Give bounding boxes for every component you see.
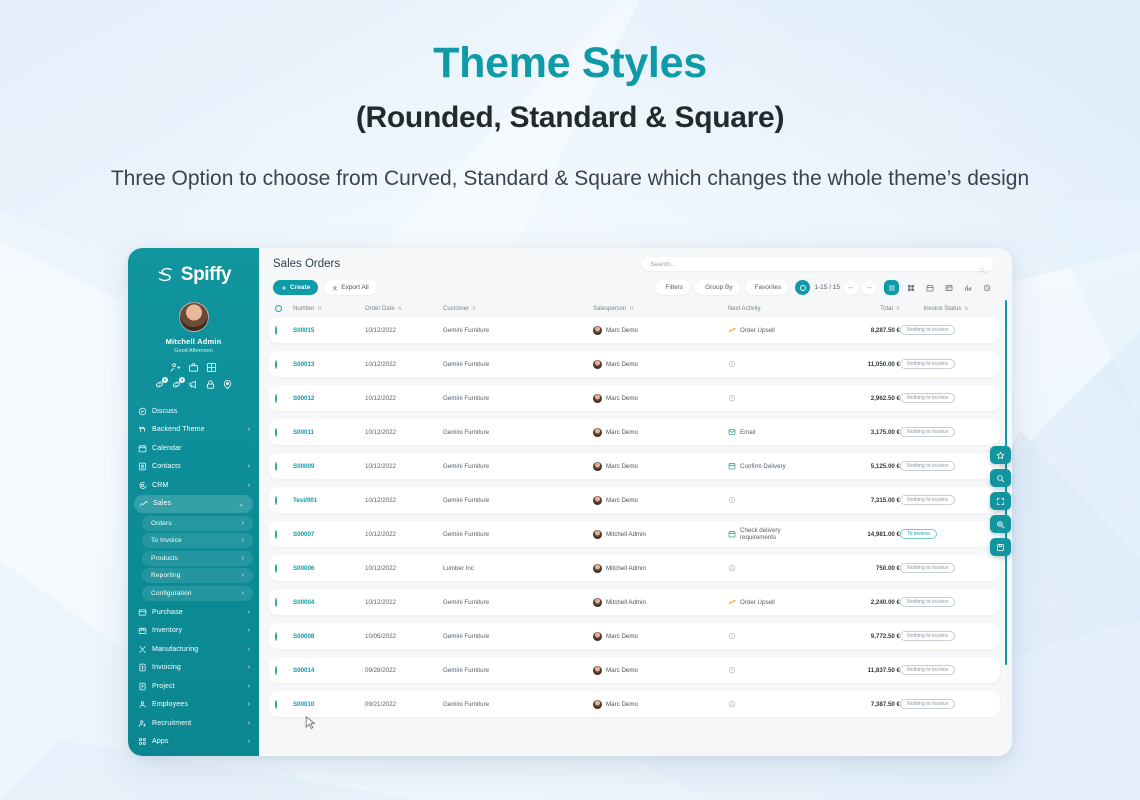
activity-view-button[interactable] — [979, 280, 994, 295]
user-name: Mitchell Admin — [128, 337, 259, 346]
clock-icon — [728, 496, 736, 504]
kanban-view-button[interactable] — [903, 280, 918, 295]
calendar-check-icon — [728, 462, 736, 470]
quick-icons-row-2: 0 4 — [128, 379, 259, 390]
cell-customer: Gemini Furniture — [443, 327, 593, 334]
sidebar-item-configuration[interactable]: Configuration › — [142, 586, 253, 601]
search-button[interactable] — [990, 469, 1011, 487]
checkbox-circle-icon — [275, 700, 277, 709]
search-icon[interactable] — [979, 261, 986, 268]
table-area: Number ⇅ Order Date ⇅ Customer ⇅ Salespe… — [259, 300, 1012, 756]
chevron-right-icon: › — [248, 426, 250, 433]
cell-next-activity — [728, 700, 814, 708]
table-body: S0001510/12/2022Gemini FurnitureMarc Dem… — [269, 317, 1000, 717]
salesperson-name: Marc Demo — [606, 701, 638, 708]
calendar-view-button[interactable] — [922, 280, 937, 295]
create-button-label: Create — [290, 284, 310, 291]
export-all-button[interactable]: Export All — [324, 280, 376, 295]
row-checkbox[interactable] — [275, 667, 293, 674]
chevron-right-icon: › — [248, 720, 250, 727]
group-by-label: Group By — [705, 284, 732, 291]
sidebar-item-label: Discuss — [152, 408, 245, 415]
table-row[interactable]: S0000810/05/2022Gemini FurnitureMarc Dem… — [269, 623, 1000, 649]
cell-order-date: 10/12/2022 — [365, 429, 443, 436]
contacts-icon — [138, 462, 147, 471]
brand[interactable]: Spiffy — [128, 260, 259, 290]
table-row[interactable]: S0001409/28/2022Gemini FurnitureMarc Dem… — [269, 657, 1000, 683]
graph-view-button[interactable] — [960, 280, 975, 295]
link-icon[interactable]: 0 — [154, 379, 165, 390]
column-header-invoice-status[interactable]: Invoice Status ⇅ — [900, 306, 992, 312]
megaphone-icon[interactable] — [188, 379, 199, 390]
chart-upsell-icon — [728, 598, 736, 606]
invoicing-icon — [138, 663, 147, 672]
cell-number[interactable]: S00008 — [293, 633, 365, 640]
sidebar-item-label: Recruitment — [152, 720, 243, 727]
sidebar-item-crm[interactable]: CRM › — [128, 476, 259, 495]
create-button[interactable]: Create — [273, 280, 318, 295]
pager-previous-button[interactable]: ← — [844, 281, 858, 295]
cell-next-activity: Check delivery requirements — [728, 527, 814, 541]
checkbox-circle-icon — [275, 428, 277, 437]
sidebar-item-label: To Invoice — [151, 537, 237, 544]
cell-salesperson: Marc Demo — [593, 496, 728, 505]
sidebar-item-label: Apps — [152, 738, 243, 745]
avatar — [593, 462, 602, 471]
export-all-label: Export All — [341, 284, 368, 291]
sidebar-item-invoicing[interactable]: Invoicing › — [128, 659, 259, 678]
sidebar-menu: Discuss Backend Theme › Calendar Contact… — [128, 402, 259, 756]
cell-customer: Gemini Furniture — [443, 395, 593, 402]
cell-invoice-status: Nothing to invoice — [900, 563, 992, 573]
total-amount: 8,287.50 € — [871, 327, 900, 334]
star-icon — [996, 451, 1005, 460]
row-checkbox[interactable] — [275, 701, 293, 708]
chevron-right-icon: › — [248, 609, 250, 616]
cell-invoice-status: Nothing to invoice — [900, 699, 992, 709]
page-subtitle: (Rounded, Standard & Square) — [0, 101, 1140, 135]
total-amount: 7,387.50 € — [871, 701, 900, 708]
location-pin-icon[interactable] — [222, 379, 233, 390]
download-icon — [332, 285, 338, 291]
checkbox-circle-icon — [275, 666, 277, 675]
cell-next-activity: Order Upsell — [728, 326, 814, 334]
cell-total: 11,837.50 € — [814, 667, 900, 674]
cell-salesperson: Marc Demo — [593, 394, 728, 403]
total-amount: 11,837.50 € — [868, 667, 900, 674]
chevron-down-icon: ⌄ — [238, 500, 244, 508]
cell-invoice-status: Nothing to invoice — [900, 665, 992, 675]
cell-order-date: 10/12/2022 — [365, 599, 443, 606]
status-badge: Nothing to invoice — [900, 597, 955, 607]
table-row[interactable]: S0001310/12/2022Gemini FurnitureMarc Dem… — [269, 351, 1000, 377]
activity-label: Order Upsell — [740, 599, 775, 606]
calendar-icon — [138, 444, 147, 453]
avatar[interactable] — [179, 302, 209, 332]
sidebar-item-orders[interactable]: Orders › — [142, 516, 253, 531]
sidebar-item-label: Manufacturing — [152, 646, 243, 653]
order-number-link[interactable]: S00015 — [293, 327, 314, 334]
cell-invoice-status: Nothing to invoice — [900, 325, 992, 335]
cell-order-date: 10/05/2022 — [365, 633, 443, 640]
zoom-in-button[interactable] — [990, 515, 1011, 533]
sidebar-item-label: Employees — [152, 701, 243, 708]
app-window-mockup: Spiffy Mitchell Admin Good Afternoon 0 — [128, 248, 1012, 756]
status-badge: Nothing to invoice — [900, 631, 955, 641]
link-alt-icon-badge: 4 — [179, 377, 185, 383]
row-checkbox[interactable] — [275, 497, 293, 504]
sidebar-item-label: Purchase — [152, 609, 243, 616]
cell-total: 3,175.00 € — [814, 429, 900, 436]
cell-number[interactable]: S00013 — [293, 361, 365, 368]
cell-total: 5,125.00 € — [814, 463, 900, 470]
user-greeting: Good Afternoon — [128, 348, 259, 354]
row-checkbox[interactable] — [275, 463, 293, 470]
sidebar-item-label: Project — [152, 683, 243, 690]
row-checkbox[interactable] — [275, 395, 293, 402]
sidebar-item-sales[interactable]: Sales ⌄ — [134, 495, 253, 514]
search-input[interactable]: Search... — [642, 257, 994, 271]
cell-order-date: 10/12/2022 — [365, 565, 443, 572]
table-row[interactable]: S0000710/12/2022Gemini FurnitureMitchell… — [269, 521, 1000, 547]
table-row[interactable]: S0000910/12/2022Gemini FurnitureMarc Dem… — [269, 453, 1000, 479]
cell-salesperson: Marc Demo — [593, 326, 728, 335]
status-badge: Nothing to invoice — [900, 563, 955, 573]
salesperson-name: Marc Demo — [606, 497, 638, 504]
chevron-right-icon: › — [248, 701, 250, 708]
activity-label: Confirm Delivery — [740, 463, 786, 470]
table-row[interactable]: S0000410/12/2022Gemini FurnitureMitchell… — [269, 589, 1000, 615]
sidebar-item-contacts[interactable]: Contacts › — [128, 458, 259, 477]
cell-invoice-status: Nothing to invoice — [900, 461, 992, 471]
manufacturing-icon — [138, 645, 147, 654]
salesperson-name: Marc Demo — [606, 463, 638, 470]
cell-next-activity — [728, 394, 814, 402]
checkbox-circle-icon — [275, 462, 277, 471]
select-all-checkbox[interactable] — [275, 305, 293, 312]
column-label: Next Activity — [728, 306, 761, 312]
spiffy-logo-icon — [156, 265, 176, 285]
avatar — [593, 598, 602, 607]
fullscreen-button[interactable] — [990, 492, 1011, 510]
total-amount: 2,962.50 € — [871, 395, 900, 402]
order-number-link[interactable]: S00006 — [293, 565, 314, 572]
cell-total: 8,287.50 € — [814, 327, 900, 334]
sidebar-item-label: Inventory — [152, 627, 243, 634]
cell-number[interactable]: S00012 — [293, 395, 365, 402]
checkbox-circle-icon — [275, 496, 277, 505]
magnifier-plus-icon — [996, 520, 1005, 529]
status-badge: Nothing to invoice — [900, 427, 955, 437]
filters-button[interactable]: Filters — [655, 280, 690, 295]
table-row[interactable]: S0001510/12/2022Gemini FurnitureMarc Dem… — [269, 317, 1000, 343]
cell-order-date: 10/12/2022 — [365, 463, 443, 470]
cell-invoice-status: Nothing to invoice — [900, 393, 992, 403]
avatar — [593, 394, 602, 403]
cell-number[interactable]: S00006 — [293, 565, 365, 572]
cell-order-date: 10/12/2022 — [365, 361, 443, 368]
avatar — [593, 530, 602, 539]
sidebar-item-manufacturing[interactable]: Manufacturing › — [128, 640, 259, 659]
status-badge: Nothing to invoice — [900, 699, 955, 709]
mouse-cursor — [305, 716, 316, 730]
calendar-check-icon — [728, 530, 736, 538]
sidebar-item-label: Sales — [153, 500, 233, 507]
status-badge: To invoice — [900, 529, 937, 539]
cell-next-activity: Order Upsell — [728, 598, 814, 606]
plus-icon — [281, 285, 287, 291]
row-checkbox[interactable] — [275, 531, 293, 538]
clock-icon — [728, 394, 736, 402]
cell-next-activity — [728, 564, 814, 572]
cell-number[interactable]: S00014 — [293, 667, 365, 674]
sort-icon: ⇅ — [398, 306, 402, 312]
avatar — [593, 360, 602, 369]
column-header-next-activity[interactable]: Next Activity — [728, 306, 814, 312]
group-by-button[interactable]: Group By — [695, 280, 739, 295]
column-label: Total — [880, 306, 893, 312]
table-row[interactable]: S0001210/12/2022Gemini FurnitureMarc Dem… — [269, 385, 1000, 411]
order-number-link[interactable]: S00007 — [293, 531, 314, 538]
cell-invoice-status: Nothing to invoice — [900, 427, 992, 437]
pager-next-button[interactable]: → — [862, 281, 876, 295]
cell-customer: Gemini Furniture — [443, 361, 593, 368]
list-view-button[interactable] — [884, 280, 899, 295]
sidebar-item-purchase[interactable]: Purchase › — [128, 603, 259, 622]
table-row[interactable]: S0001009/21/2022Gemini FurnitureMarc Dem… — [269, 691, 1000, 717]
sidebar-item-label: Contacts — [152, 463, 243, 470]
inventory-icon — [138, 626, 147, 635]
briefcase-icon[interactable] — [188, 362, 199, 373]
clock-icon — [728, 360, 736, 368]
column-header-number[interactable]: Number ⇅ — [293, 306, 365, 312]
checkbox-circle-icon — [275, 394, 277, 403]
save-layout-button[interactable] — [990, 538, 1011, 556]
avatar — [593, 564, 602, 573]
cell-next-activity — [728, 632, 814, 640]
order-number-link[interactable]: S00004 — [293, 599, 314, 606]
chart-upsell-icon — [728, 326, 736, 334]
purchase-icon — [138, 608, 147, 617]
salesperson-name: Mitchell Admin — [606, 531, 646, 538]
status-badge: Nothing to invoice — [900, 665, 955, 675]
search-placeholder: Search... — [650, 261, 979, 268]
column-label: Order Date — [365, 306, 395, 312]
loading-indicator-icon[interactable] — [795, 280, 810, 295]
cell-number[interactable]: S00010 — [293, 701, 365, 708]
page-title: Theme Styles — [0, 40, 1140, 87]
clock-icon — [728, 666, 736, 674]
row-checkbox[interactable] — [275, 361, 293, 368]
activity-label: Check delivery requirements — [740, 527, 814, 541]
chevron-right-icon: › — [248, 646, 250, 653]
sidebar-item-calendar[interactable]: Calendar — [128, 439, 259, 458]
checkbox-circle-icon — [275, 530, 277, 539]
table-row[interactable]: S0000610/12/2022Lumber IncMitchell Admin… — [269, 555, 1000, 581]
activity-label: Email — [740, 429, 755, 436]
avatar — [593, 496, 602, 505]
column-header-customer[interactable]: Customer ⇅ — [443, 306, 593, 312]
discuss-icon — [138, 407, 147, 416]
avatar — [593, 632, 602, 641]
cell-order-date: 10/12/2022 — [365, 531, 443, 538]
filters-label: Filters — [665, 284, 683, 291]
row-checkbox[interactable] — [275, 565, 293, 572]
row-checkbox[interactable] — [275, 633, 293, 640]
lock-icon[interactable] — [205, 379, 216, 390]
column-header-order-date[interactable]: Order Date ⇅ — [365, 306, 443, 312]
cell-customer: Gemini Furniture — [443, 497, 593, 504]
total-amount: 7,315.00 € — [871, 497, 900, 504]
row-checkbox[interactable] — [275, 327, 293, 334]
view-switcher — [884, 280, 994, 295]
order-number-link[interactable]: S00008 — [293, 633, 314, 640]
users-switch-icon[interactable] — [170, 362, 181, 373]
favorites-button[interactable]: Favorites — [745, 280, 789, 295]
column-header-total[interactable]: Total ⇅ — [814, 306, 900, 312]
chevron-right-icon: › — [248, 627, 250, 634]
save-window-icon — [996, 543, 1005, 552]
cell-next-activity: Email — [728, 428, 814, 436]
sidebar-item-settings[interactable]: Settings › — [128, 751, 259, 756]
table-row[interactable]: S0001110/12/2022Gemini FurnitureMarc Dem… — [269, 419, 1000, 445]
cell-total: 2,962.50 € — [814, 395, 900, 402]
column-label: Invoice Status — [924, 306, 962, 312]
grid-apps-icon[interactable] — [206, 362, 217, 373]
sidebar-item-employees[interactable]: Employees › — [128, 696, 259, 715]
cell-total: 7,387.50 € — [814, 701, 900, 708]
cell-number[interactable]: S00015 — [293, 327, 365, 334]
cell-salesperson: Mitchell Admin — [593, 564, 728, 573]
link-icon-badge: 0 — [162, 377, 168, 383]
cell-invoice-status: Nothing to invoice — [900, 631, 992, 641]
table-header: Number ⇅ Order Date ⇅ Customer ⇅ Salespe… — [269, 300, 1000, 317]
cell-customer: Gemini Furniture — [443, 429, 593, 436]
cell-next-activity — [728, 360, 814, 368]
cell-order-date: 10/12/2022 — [365, 395, 443, 402]
favorite-star-button[interactable] — [990, 446, 1011, 464]
sidebar-item-discuss[interactable]: Discuss — [128, 402, 259, 421]
avatar-wrap[interactable] — [128, 302, 259, 332]
sort-icon: ⇅ — [629, 306, 633, 312]
sidebar-item-reporting[interactable]: Reporting › — [142, 568, 253, 583]
cell-customer: Gemini Furniture — [443, 463, 593, 470]
sidebar-item-recruitment[interactable]: Recruitment › — [128, 714, 259, 733]
cell-total: 11,050.00 € — [814, 361, 900, 368]
order-number-link[interactable]: S00010 — [293, 701, 314, 708]
crm-icon — [138, 481, 147, 490]
sidebar-item-label: Backend Theme — [152, 426, 243, 433]
checkbox-circle-icon — [275, 564, 277, 573]
cell-next-activity — [728, 666, 814, 674]
cell-salesperson: Marc Demo — [593, 700, 728, 709]
order-number-link[interactable]: S00014 — [293, 667, 314, 674]
sidebar-item-apps[interactable]: Apps › — [128, 733, 259, 752]
ring-shape — [800, 285, 806, 291]
order-number-link[interactable]: S00012 — [293, 395, 314, 402]
column-label: Customer — [443, 306, 469, 312]
chevron-right-icon: › — [248, 482, 250, 489]
cell-customer: Gemini Furniture — [443, 531, 593, 538]
apps-icon — [138, 737, 147, 746]
sidebar-item-to-invoice[interactable]: To Invoice › — [142, 533, 253, 548]
cell-invoice-status: Nothing to invoice — [900, 597, 992, 607]
cell-number[interactable]: S00004 — [293, 599, 365, 606]
chevron-right-icon: › — [242, 590, 244, 597]
cell-total: 750.00 € — [814, 565, 900, 572]
salesperson-name: Marc Demo — [606, 633, 638, 640]
salesperson-name: Marc Demo — [606, 429, 638, 436]
cell-number[interactable]: S00009 — [293, 463, 365, 470]
employees-icon — [138, 700, 147, 709]
column-header-salesperson[interactable]: Salesperson ⇅ — [593, 306, 728, 312]
pivot-view-button[interactable] — [941, 280, 956, 295]
main-content: Sales Orders Search... Create — [259, 248, 1012, 756]
chevron-right-icon: › — [248, 463, 250, 470]
order-number-link[interactable]: S00009 — [293, 463, 314, 470]
sidebar-item-label: Products — [151, 555, 237, 562]
expand-icon — [996, 497, 1005, 506]
sidebar-item-products[interactable]: Products › — [142, 551, 253, 566]
sidebar-item-inventory[interactable]: Inventory › — [128, 622, 259, 641]
status-badge: Nothing to invoice — [900, 359, 955, 369]
row-checkbox[interactable] — [275, 429, 293, 436]
sidebar-item-label: Configuration — [151, 590, 237, 597]
cell-salesperson: Marc Demo — [593, 632, 728, 641]
cell-customer: Gemini Furniture — [443, 667, 593, 674]
sidebar-item-backend-theme[interactable]: Backend Theme › — [128, 421, 259, 440]
order-number-link[interactable]: Test/001 — [293, 497, 317, 504]
sidebar-item-label: CRM — [152, 482, 243, 489]
cell-number[interactable]: S00007 — [293, 531, 365, 538]
checkbox-circle-icon — [275, 632, 277, 641]
cell-salesperson: Mitchell Admin — [593, 530, 728, 539]
cell-number[interactable]: Test/001 — [293, 497, 365, 504]
toolbar-row-top: Sales Orders Search... — [273, 257, 994, 271]
salesperson-name: Marc Demo — [606, 327, 638, 334]
recruitment-icon — [138, 719, 147, 728]
order-number-link[interactable]: S00013 — [293, 361, 314, 368]
cell-total: 9,772.50 € — [814, 633, 900, 640]
sidebar-item-label: Orders — [151, 520, 237, 527]
checkbox-circle-icon — [275, 326, 277, 335]
table-row[interactable]: Test/00110/12/2022Gemini FurnitureMarc D… — [269, 487, 1000, 513]
cell-next-activity — [728, 496, 814, 504]
status-badge: Nothing to invoice — [900, 393, 955, 403]
sidebar-item-label: Calendar — [152, 445, 245, 452]
order-number-link[interactable]: S00011 — [293, 429, 314, 436]
sidebar-item-label: Invoicing — [152, 664, 243, 671]
salesperson-name: Marc Demo — [606, 361, 638, 368]
cell-customer: Lumber Inc — [443, 565, 593, 572]
sort-icon: ⇅ — [317, 306, 321, 312]
link-alt-icon[interactable]: 4 — [171, 379, 182, 390]
row-checkbox[interactable] — [275, 599, 293, 606]
cell-total: 2,240.00 € — [814, 599, 900, 606]
total-amount: 750.00 € — [876, 565, 900, 572]
avatar — [593, 326, 602, 335]
sidebar-item-project[interactable]: Project › — [128, 677, 259, 696]
action-buttons: Create Export All — [273, 280, 377, 295]
cell-next-activity: Confirm Delivery — [728, 462, 814, 470]
cell-total: 14,981.00 € — [814, 531, 900, 538]
view-tools: Filters Group By Favorites 1-15 / 15 ← — [655, 280, 994, 295]
cell-invoice-status: To invoice — [900, 529, 992, 539]
chevron-right-icon: › — [248, 738, 250, 745]
sort-icon: ⇅ — [896, 306, 900, 312]
cell-customer: Gemini Furniture — [443, 701, 593, 708]
cell-number[interactable]: S00011 — [293, 429, 365, 436]
